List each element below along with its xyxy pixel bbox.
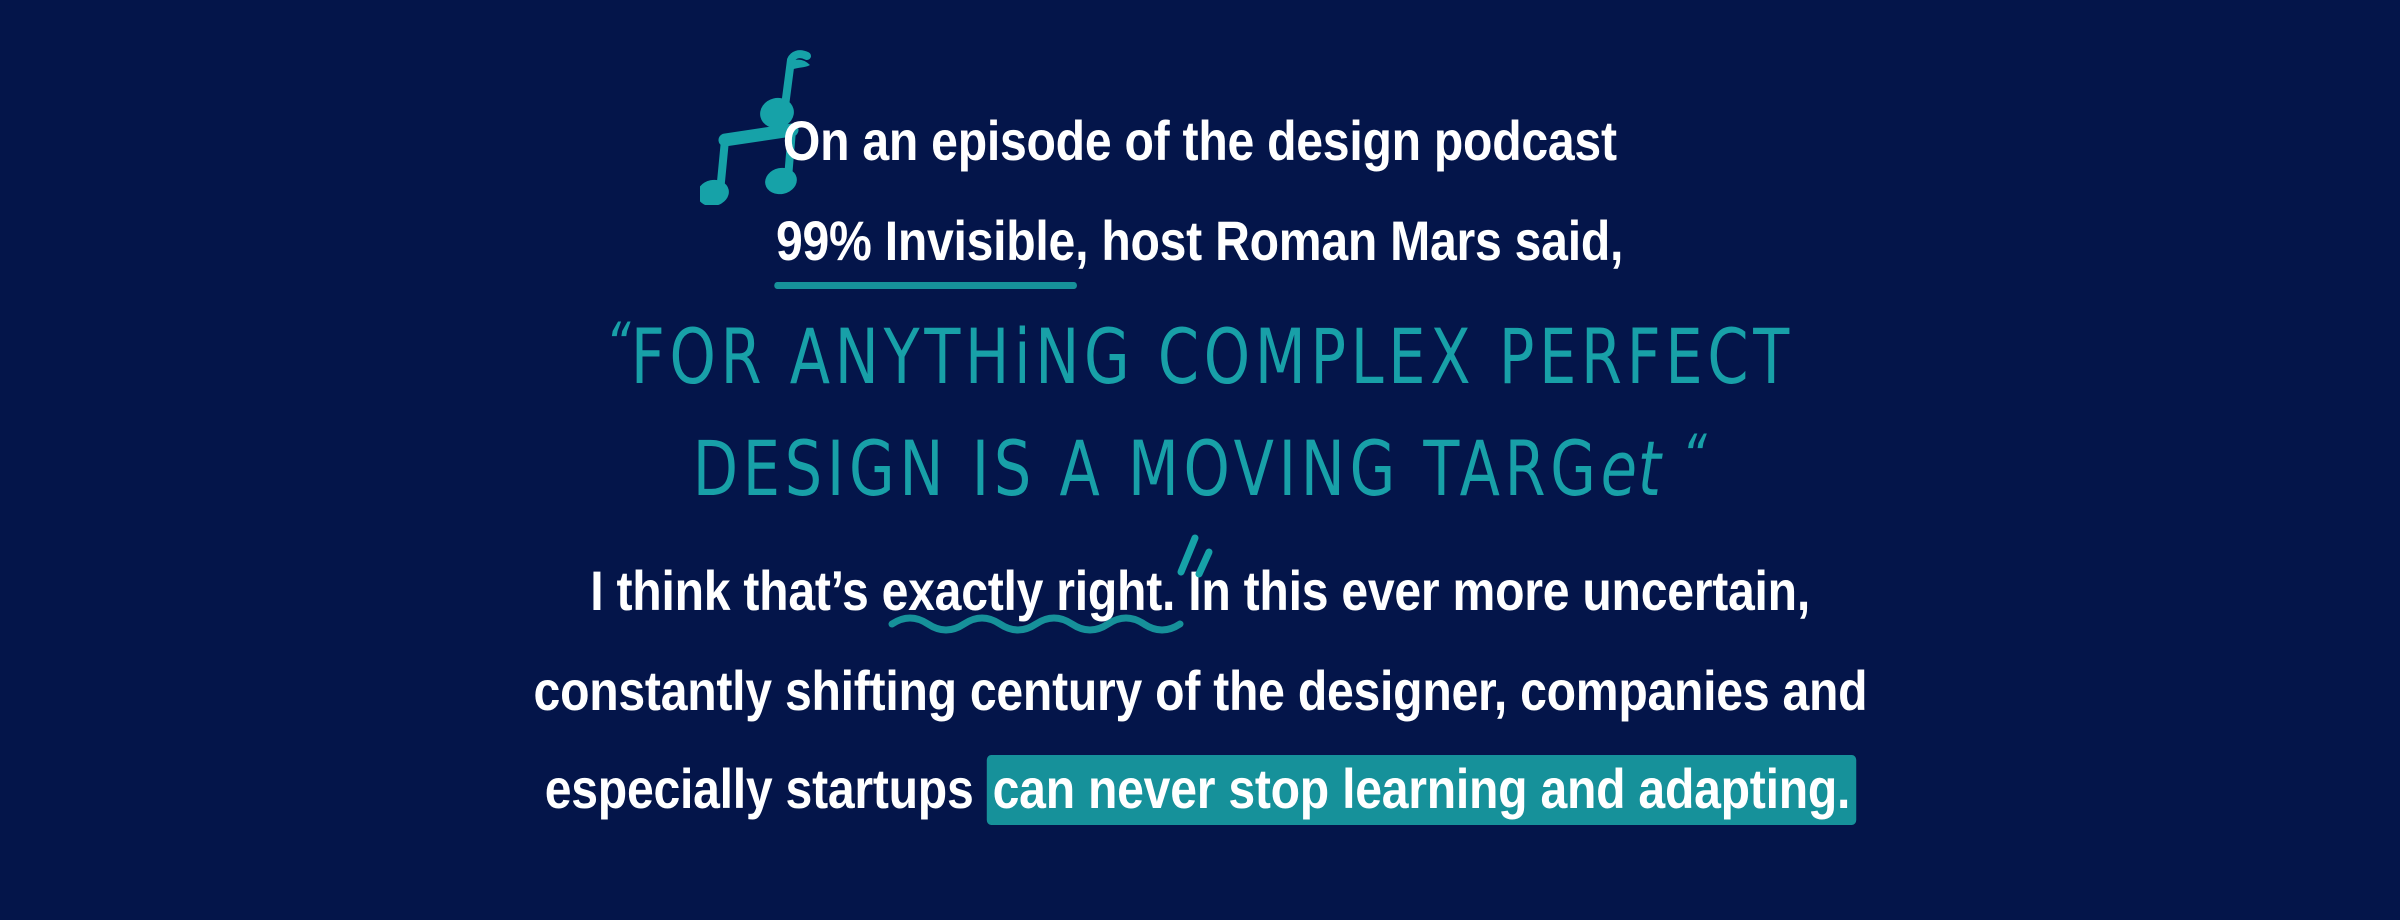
quote-line-2-group: DESIGN IS A MOVING TARGet“	[693, 422, 1708, 514]
body-line-3-text: especially startups can never stop learn…	[544, 756, 1855, 821]
quote-line-1-text: FOR ANYTHiNG COMPLEX PERFECT	[631, 312, 1794, 401]
body-line-1: I think that’s exactly right. In this ev…	[0, 558, 2400, 623]
body-line-2-text: constantly shifting century of the desig…	[533, 658, 1867, 723]
intro-line-1: On an episode of the design podcast	[0, 108, 2400, 173]
body-line-1-pre: I think that’s	[590, 559, 881, 622]
intro-line-2-text: 99% Invisible, host Roman Mars said,	[776, 208, 1623, 273]
quote-line-2-tail: et	[1601, 424, 1662, 513]
body-line-1-text: I think that’s exactly right. In this ev…	[590, 558, 1810, 623]
quote-close-mark: “	[1677, 422, 1713, 493]
quote-line-1-group: “FOR ANYTHiNG COMPLEX PERFECT	[606, 310, 1794, 402]
body-line-1-emphasis: exactly right.	[882, 559, 1175, 622]
quote-line-2: DESIGN IS A MOVING TARGet“	[0, 430, 2400, 505]
intro-line-1-text: On an episode of the design podcast	[783, 108, 1617, 173]
quote-line-1: “FOR ANYTHiNG COMPLEX PERFECT	[0, 318, 2400, 393]
body-line-3-pre: especially startups	[544, 757, 986, 820]
quote-line-2-text: DESIGN IS A MOVING TARG	[693, 424, 1601, 513]
intro-line-2: 99% Invisible, host Roman Mars said,	[0, 208, 2400, 273]
podcast-name-underlined: 99% Invisible	[776, 208, 1075, 273]
intro-line-2-rest: , host Roman Mars said,	[1076, 209, 1624, 272]
highlighted-statement: can never stop learning and adapting.	[986, 755, 1856, 825]
body-line-2: constantly shifting century of the desig…	[0, 658, 2400, 723]
body-line-3: especially startups can never stop learn…	[0, 756, 2400, 821]
quote-graphic-canvas: On an episode of the design podcast 99% …	[0, 0, 2400, 920]
body-line-1-post: In this ever more uncertain,	[1175, 559, 1810, 622]
